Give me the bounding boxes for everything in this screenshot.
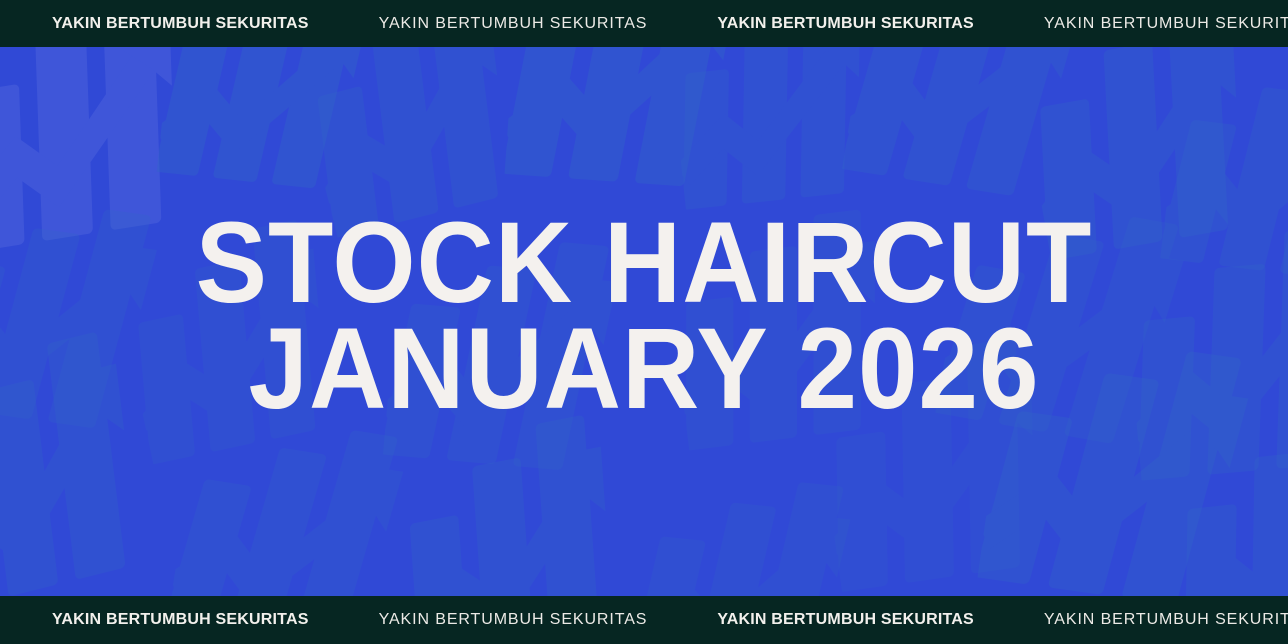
marquee-brand-bold: YAKIN BERTUMBUH SEKURITAS (717, 16, 974, 32)
marquee-brand-light: YAKIN BERTUMBUH SEKURITAS (379, 612, 648, 628)
marquee-brand-bold: YAKIN BERTUMBUH SEKURITAS (52, 612, 309, 628)
hero-title-line-2: JANUARY 2026 (248, 311, 1039, 423)
hero-title-block: STOCK HAIRCUT JANUARY 2026 (0, 47, 1288, 596)
bottom-marquee-track: YAKIN BERTUMBUH SEKURITAS YAKIN BERTUMBU… (0, 612, 1288, 628)
marquee-brand-bold: YAKIN BERTUMBUH SEKURITAS (52, 16, 309, 32)
bottom-marquee-banner: YAKIN BERTUMBUH SEKURITAS YAKIN BERTUMBU… (0, 596, 1288, 644)
top-marquee-track: YAKIN BERTUMBUH SEKURITAS YAKIN BERTUMBU… (0, 16, 1288, 32)
hero-title-line-1: STOCK HAIRCUT (196, 205, 1093, 317)
marquee-brand-light: YAKIN BERTUMBUH SEKURITAS (379, 16, 648, 32)
top-marquee-banner: YAKIN BERTUMBUH SEKURITAS YAKIN BERTUMBU… (0, 0, 1288, 47)
marquee-brand-light: YAKIN BERTUMBUH SEKURITAS (1044, 612, 1288, 628)
marquee-brand-bold: YAKIN BERTUMBUH SEKURITAS (717, 612, 974, 628)
marquee-brand-light: YAKIN BERTUMBUH SEKURITAS (1044, 16, 1288, 32)
poster-canvas: STOCK HAIRCUT JANUARY 2026 YAKIN BERTUMB… (0, 0, 1288, 644)
